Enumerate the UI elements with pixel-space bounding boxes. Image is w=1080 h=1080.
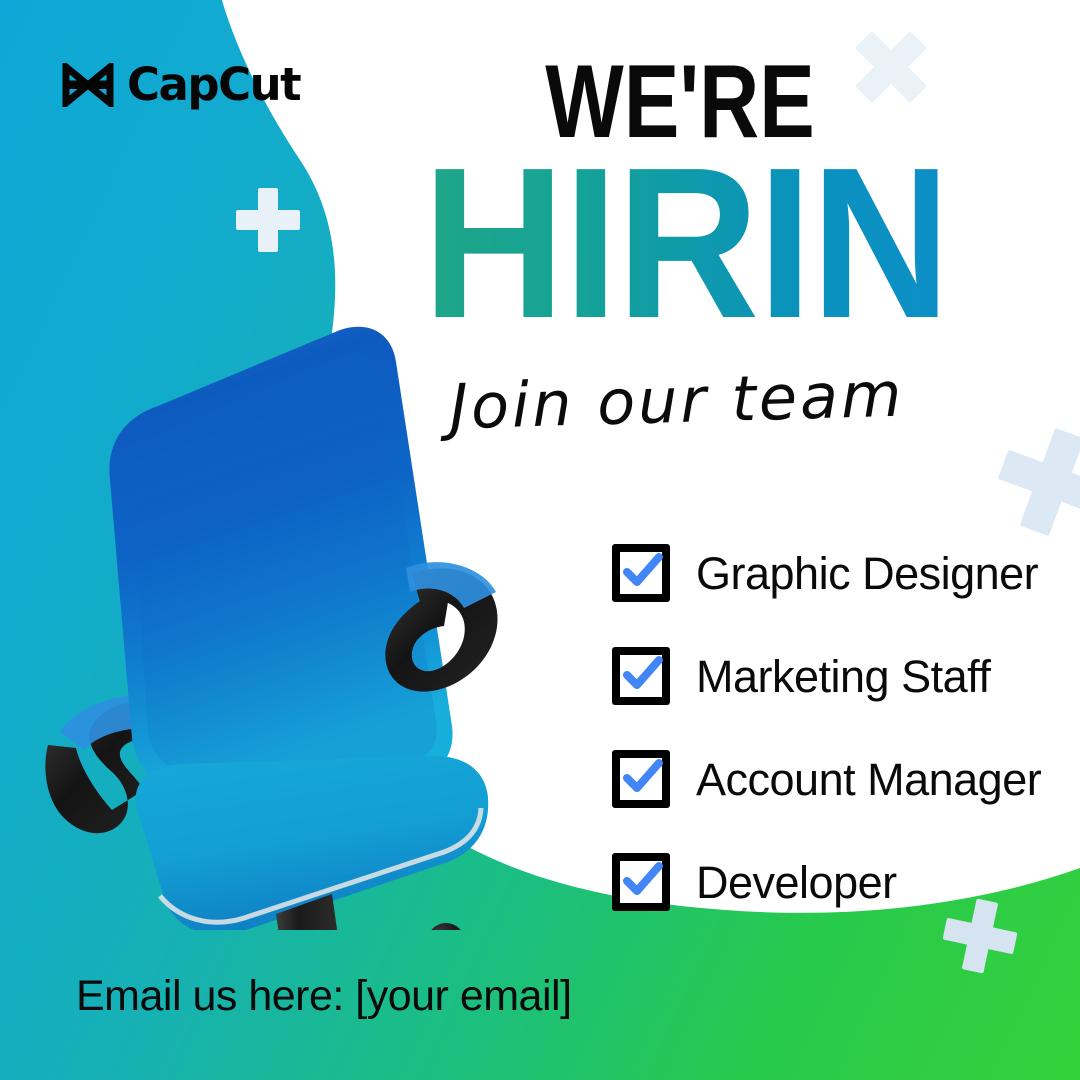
checkbox-checked-icon[interactable] [612, 750, 670, 808]
list-item-label: Graphic Designer [696, 551, 1038, 596]
checkbox-checked-icon[interactable] [612, 853, 670, 911]
capcut-wordmark: CapCut [127, 62, 300, 107]
checkbox-checked-icon[interactable] [612, 544, 670, 602]
capcut-bowtie-icon [62, 63, 114, 107]
list-item[interactable]: Account Manager [612, 750, 1041, 808]
capcut-logo: CapCut [62, 62, 300, 107]
list-item-label: Marketing Staff [696, 654, 990, 699]
office-chair-illustration [40, 290, 510, 930]
hiring-poster: CapCut WE'RE HIRING Join our team Graphi… [0, 0, 1080, 1080]
list-item[interactable]: Developer [612, 853, 1041, 911]
list-item[interactable]: Graphic Designer [612, 544, 1041, 602]
list-item-label: Developer [696, 860, 897, 905]
list-item-label: Account Manager [696, 757, 1041, 802]
cross-decoration-icon [236, 188, 300, 252]
checkbox-checked-icon[interactable] [612, 647, 670, 705]
job-checklist: Graphic Designer Marketing Staff Account… [612, 544, 1041, 911]
list-item[interactable]: Marketing Staff [612, 647, 1041, 705]
contact-email-text: Email us here: [your email] [76, 972, 572, 1021]
